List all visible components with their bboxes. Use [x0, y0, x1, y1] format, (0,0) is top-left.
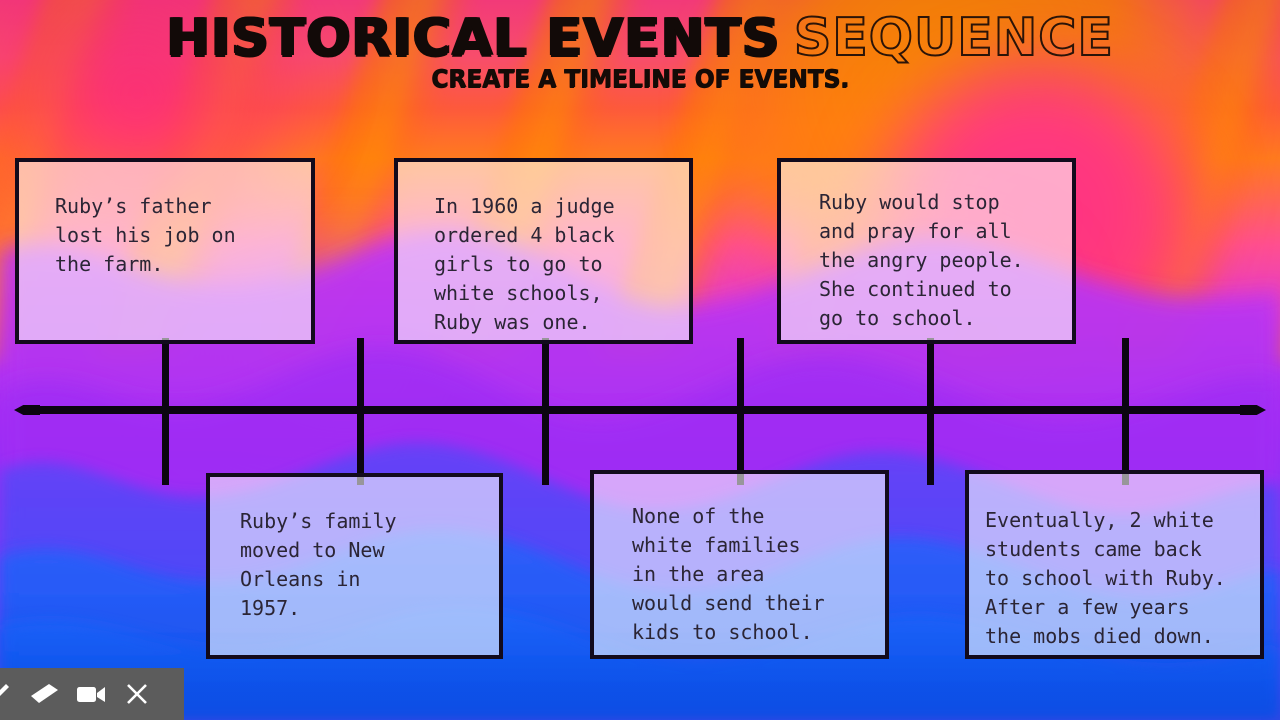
pen-button[interactable]: [0, 668, 22, 720]
timeline-tick-down-3: [542, 405, 549, 485]
eraser-icon: [29, 681, 61, 707]
slide-subtitle: CREATE A TIMELINE OF EVENTS.: [45, 64, 1235, 93]
slide-canvas: HISTORICAL EVENTSSEQUENCE CREATE A TIMEL…: [0, 0, 1280, 720]
timeline-tick-down-1: [162, 405, 169, 485]
close-icon: [124, 681, 150, 707]
slide-title: HISTORICAL EVENTSSEQUENCE: [0, 6, 1280, 70]
event-text: In 1960 a judge ordered 4 black girls to…: [434, 192, 689, 337]
event-text: None of the white families in the area w…: [632, 502, 885, 647]
event-box[interactable]: In 1960 a judge ordered 4 black girls to…: [394, 158, 693, 344]
slide-header: HISTORICAL EVENTSSEQUENCE CREATE A TIMEL…: [0, 6, 1280, 93]
event-box[interactable]: Ruby’s family moved to New Orleans in 19…: [206, 473, 503, 659]
event-text: Eventually, 2 white students came back t…: [985, 506, 1260, 651]
title-main: HISTORICAL EVENTS: [166, 8, 780, 68]
event-box[interactable]: Eventually, 2 white students came back t…: [965, 470, 1264, 659]
event-box[interactable]: None of the white families in the area w…: [590, 470, 889, 659]
title-accent: SEQUENCE: [794, 8, 1114, 68]
close-button[interactable]: [114, 668, 160, 720]
timeline-tick-down-5: [927, 405, 934, 485]
event-text: Ruby’s father lost his job on the farm.: [55, 192, 311, 279]
pen-icon: [0, 681, 12, 707]
event-text: Ruby’s family moved to New Orleans in 19…: [240, 507, 499, 623]
record-button[interactable]: [68, 668, 114, 720]
event-box[interactable]: Ruby would stop and pray for all the ang…: [777, 158, 1076, 344]
screen-recorder-toolbar[interactable]: [0, 668, 184, 720]
event-text: Ruby would stop and pray for all the ang…: [819, 188, 1072, 333]
eraser-button[interactable]: [22, 668, 68, 720]
timeline-arrow-icon: [14, 405, 1266, 415]
video-camera-icon: [75, 682, 107, 706]
event-box[interactable]: Ruby’s father lost his job on the farm.: [15, 158, 315, 344]
